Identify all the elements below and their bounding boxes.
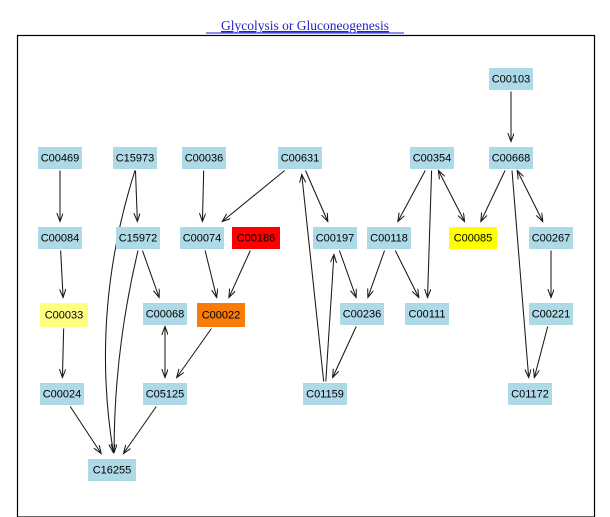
node-label-C00084: C00084 xyxy=(41,232,80,244)
pathway-diagram-canvas: Glycolysis or Gluconeogenesis C00469C159… xyxy=(0,0,610,517)
edge-C00631-to-C00197 xyxy=(305,171,327,222)
node-label-C01159: C01159 xyxy=(306,388,344,400)
edge-C00186-to-C00022 xyxy=(229,251,250,298)
edge-C00668-to-C00085 xyxy=(481,171,505,222)
node-label-C05125: C05125 xyxy=(146,388,185,400)
node-C15973[interactable]: C15973 xyxy=(113,147,157,169)
node-label-C00354: C00354 xyxy=(413,152,452,164)
node-C00186[interactable]: C00186 xyxy=(232,227,280,249)
edge-C00036-to-C00074 xyxy=(202,171,203,222)
node-label-C00267: C00267 xyxy=(532,232,571,244)
node-C00068[interactable]: C00068 xyxy=(143,303,187,325)
node-label-C00024: C00024 xyxy=(43,388,82,400)
node-C05125[interactable]: C05125 xyxy=(143,383,187,405)
node-label-C00197: C00197 xyxy=(316,232,355,244)
node-label-C15972: C15972 xyxy=(119,232,158,244)
edge-C15973-to-C16255 xyxy=(105,171,135,453)
node-C00024[interactable]: C00024 xyxy=(40,383,84,405)
edge-C00354-to-C00111 xyxy=(428,171,432,298)
node-C00236[interactable]: C00236 xyxy=(340,303,384,325)
edge-C00024-to-C16255 xyxy=(70,407,101,454)
node-label-C00085: C00085 xyxy=(454,232,493,244)
edge-C01159-to-C00197 xyxy=(326,255,334,382)
node-C00103[interactable]: C00103 xyxy=(489,68,533,90)
edge-C00236-to-C01159 xyxy=(333,327,357,378)
node-label-C00221: C00221 xyxy=(532,308,571,320)
node-label-C00118: C00118 xyxy=(370,232,408,244)
node-label-C16255: C16255 xyxy=(93,464,132,476)
node-label-C00631: C00631 xyxy=(281,152,320,164)
node-C00197[interactable]: C00197 xyxy=(313,227,357,249)
node-C00118[interactable]: C00118 xyxy=(367,227,411,249)
edge-C05125-to-C16255 xyxy=(124,407,157,454)
node-label-C00022: C00022 xyxy=(202,309,241,321)
node-label-C00103: C00103 xyxy=(492,73,531,85)
node-C00221[interactable]: C00221 xyxy=(529,303,573,325)
node-C01159[interactable]: C01159 xyxy=(303,383,347,405)
node-C00074[interactable]: C00074 xyxy=(180,227,224,249)
page-title: Glycolysis or Gluconeogenesis xyxy=(221,18,389,33)
edge-C00074-to-C00022 xyxy=(205,251,217,298)
edge-C00197-to-C00236 xyxy=(339,251,356,298)
edge-C00022-to-C05125 xyxy=(177,329,212,378)
node-C00084[interactable]: C00084 xyxy=(38,227,82,249)
edge-C00118-to-C00111 xyxy=(395,251,419,298)
node-label-C00068: C00068 xyxy=(146,308,185,320)
node-C00469[interactable]: C00469 xyxy=(38,147,82,169)
node-C00267[interactable]: C00267 xyxy=(529,227,573,249)
node-label-C00074: C00074 xyxy=(183,232,222,244)
edge-C00631-to-C00074 xyxy=(222,171,284,222)
edge-C15972-to-C16255 xyxy=(114,251,138,453)
node-label-C00033: C00033 xyxy=(45,309,84,321)
edge-C15972-to-C00068 xyxy=(142,251,159,298)
node-C00631[interactable]: C00631 xyxy=(278,147,322,169)
node-label-C00668: C00668 xyxy=(492,152,531,164)
node-C00036[interactable]: C00036 xyxy=(182,147,226,169)
edge-C00668-to-C00267 xyxy=(517,171,543,222)
diagram-frame xyxy=(18,36,595,517)
node-C00033[interactable]: C00033 xyxy=(40,303,88,327)
nodes-layer: C00469C15973C00036C00631C00354C00668C001… xyxy=(38,68,573,481)
node-label-C15973: C15973 xyxy=(116,152,155,164)
node-C00111[interactable]: C00111 xyxy=(405,303,449,325)
edge-C00354-to-C00085 xyxy=(438,171,464,222)
node-C00085[interactable]: C00085 xyxy=(449,227,497,249)
edge-C15973-to-C15972 xyxy=(135,171,137,222)
edge-C00084-to-C00033 xyxy=(61,251,63,298)
node-C00354[interactable]: C00354 xyxy=(410,147,454,169)
node-label-C00236: C00236 xyxy=(343,308,382,320)
node-label-C00186: C00186 xyxy=(237,232,276,244)
node-C01172[interactable]: C01172 xyxy=(508,383,552,405)
edge-C00118-to-C00236 xyxy=(368,251,385,298)
node-label-C00036: C00036 xyxy=(185,152,224,164)
edge-C00668-to-C01172 xyxy=(512,171,529,378)
edge-C00033-to-C00024 xyxy=(62,329,63,378)
edge-C00354-to-C00118 xyxy=(398,171,425,222)
node-label-C00111: C00111 xyxy=(409,308,446,320)
node-C15972[interactable]: C15972 xyxy=(116,227,160,249)
node-label-C01172: C01172 xyxy=(511,388,549,400)
node-C00668[interactable]: C00668 xyxy=(489,147,533,169)
node-C16255[interactable]: C16255 xyxy=(88,459,136,481)
node-label-C00469: C00469 xyxy=(41,152,80,164)
edge-C00221-to-C01172 xyxy=(534,327,547,378)
node-C00022[interactable]: C00022 xyxy=(197,303,245,327)
